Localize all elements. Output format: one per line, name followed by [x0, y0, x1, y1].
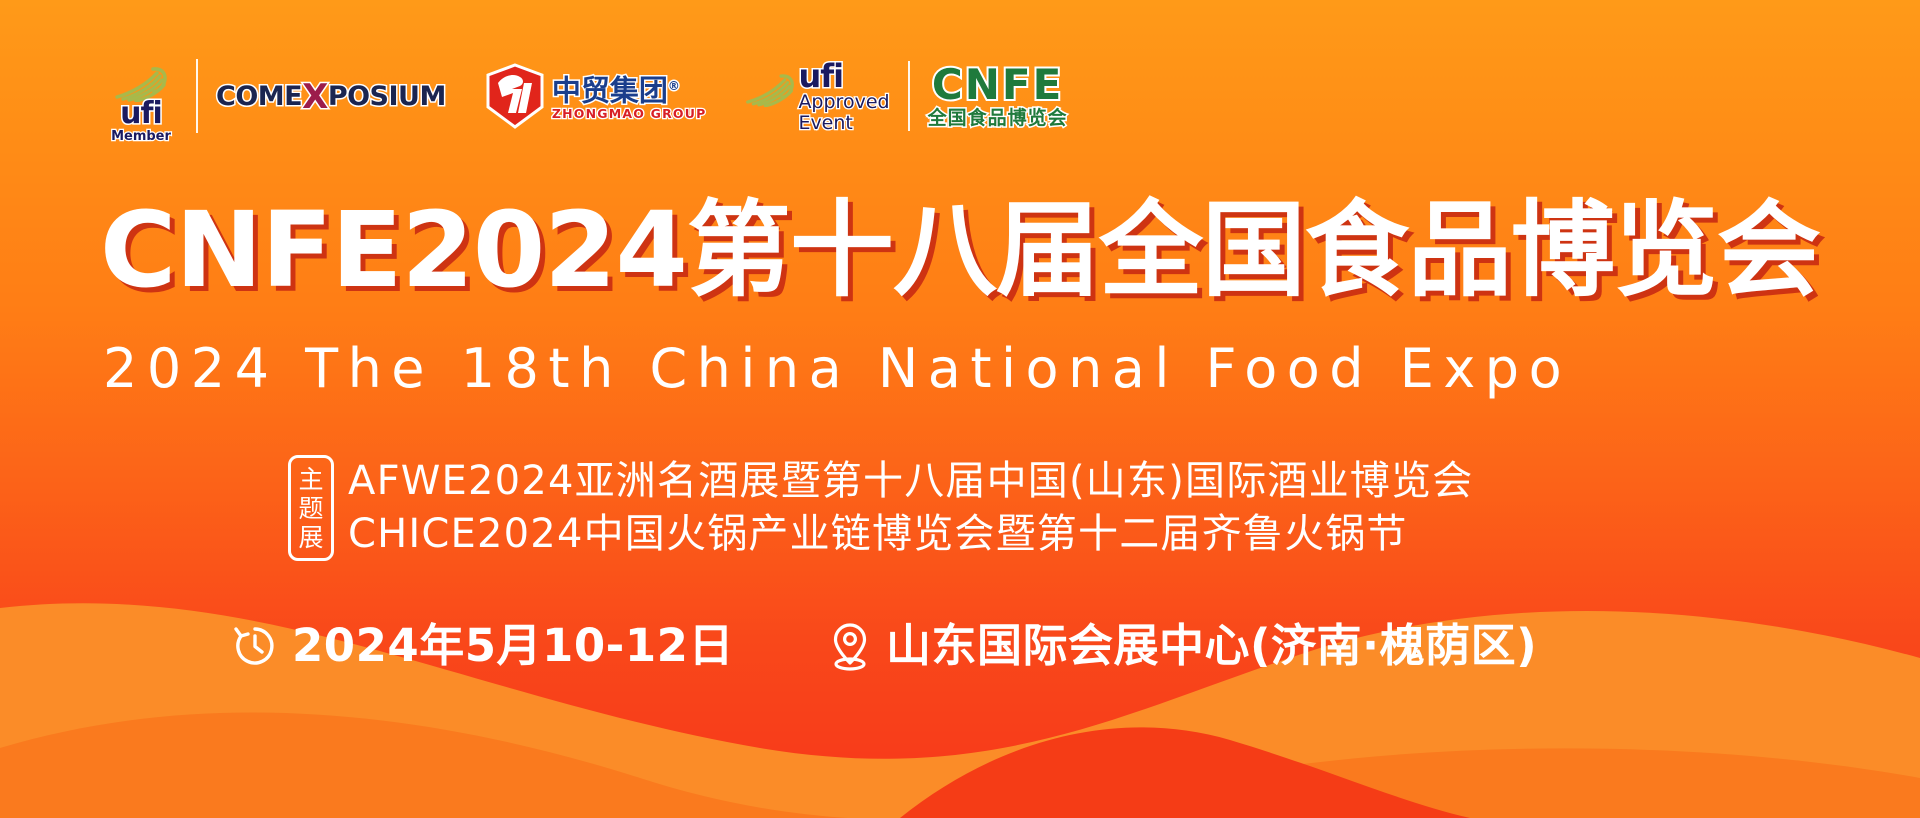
zhongmao-horse-icon [484, 63, 546, 129]
theme-badge: 主 题 展 [288, 455, 334, 561]
ufi-approved-event-logo: ufi Approved Event [744, 59, 889, 134]
ufi-approved-word: ufi [798, 61, 843, 92]
logo-divider-4 [908, 61, 910, 131]
zhongmao-group-logo: 中贸集团® ZHONGMAO GROUP [484, 63, 707, 129]
wave-lower [0, 712, 1920, 818]
theme-badge-char-1: 主 [298, 465, 323, 494]
ufi-member-logo: ufi Member [104, 48, 178, 144]
event-venue: 山东国际会展中心(济南·槐荫区) [828, 621, 1537, 671]
ufi-member-word: ufi [120, 99, 162, 129]
theme-exhibitions: 主 题 展 AFWE2024亚洲名酒展暨第十八届中国(山东)国际酒业博览会 CH… [288, 455, 1473, 561]
main-title-english: 2024 The 18th China National Food Expo [103, 340, 1863, 398]
ufi-approved-line2: Event [798, 113, 852, 134]
event-info-row: 2024年5月10-12日 山东国际会展中心(济南·槐荫区) [232, 621, 1537, 671]
clock-icon [232, 623, 278, 669]
theme-badge-char-2: 题 [298, 494, 323, 523]
theme-line-chice: CHICE2024中国火锅产业链博览会暨第十二届齐鲁火锅节 [348, 508, 1473, 561]
ufi-approved-swoosh-icon [744, 73, 796, 107]
comexposium-part1: COME [216, 81, 302, 112]
theme-line-afwe: AFWE2024亚洲名酒展暨第十八届中国(山东)国际酒业博览会 [348, 455, 1473, 508]
location-pin-icon [828, 621, 872, 671]
ufi-member-sub: Member [111, 129, 171, 144]
cnfe-logo-en: CNFE [932, 64, 1063, 106]
sponsor-logo-strip: ufi Member COMEXPOSIUM 中贸集团® ZHONGMAO GR… [104, 48, 1068, 144]
ufi-approved-line1: Approved [798, 92, 889, 113]
event-venue-text: 山东国际会展中心(济南·槐荫区) [886, 621, 1537, 671]
theme-badge-char-3: 展 [298, 523, 323, 552]
event-banner: ufi Member COMEXPOSIUM 中贸集团® ZHONGMAO GR… [0, 0, 1920, 818]
cnfe-logo-cn: 全国食品博览会 [928, 107, 1068, 129]
comexposium-part2: POSIUM [328, 81, 446, 112]
comexposium-x: X [302, 77, 328, 117]
cnfe-logo: CNFE 全国食品博览会 [928, 64, 1068, 129]
zhongmao-en-name: ZHONGMAO GROUP [552, 106, 707, 121]
event-date: 2024年5月10-12日 [232, 621, 734, 671]
event-date-text: 2024年5月10-12日 [292, 621, 734, 671]
wave-accent [900, 727, 1470, 818]
logo-divider-1 [196, 59, 198, 133]
comexposium-logo: COMEXPOSIUM [216, 76, 446, 116]
zhongmao-cn-name: 中贸集团® [552, 71, 680, 106]
main-title-chinese: CNFE2024第十八届全国食品博览会 [100, 195, 1840, 305]
